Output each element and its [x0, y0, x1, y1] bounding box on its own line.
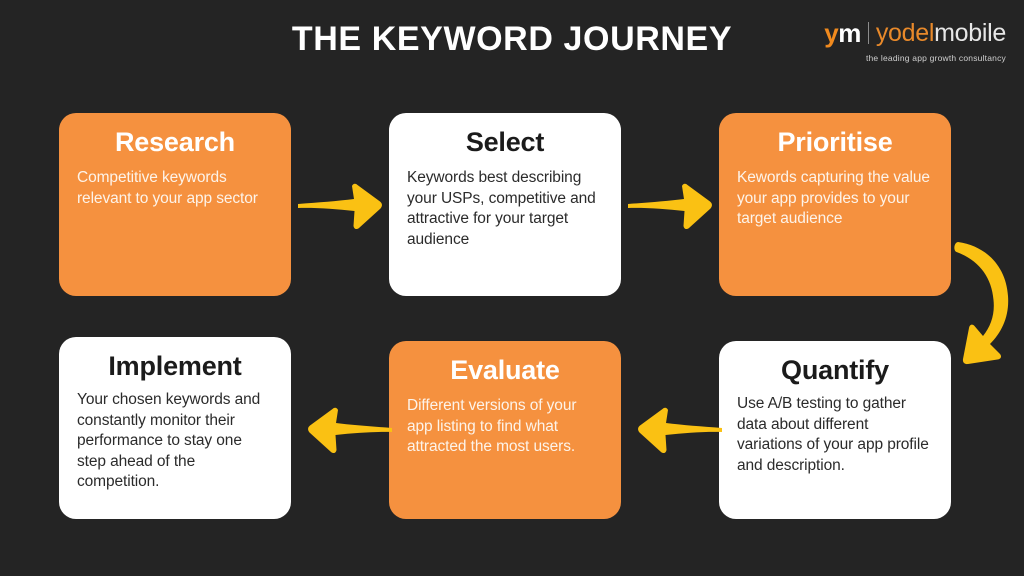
logo-monogram: ym: [824, 20, 861, 46]
step-body-evaluate: Different versions of your app listing t…: [407, 396, 603, 458]
step-card-quantify[interactable]: Quantify Use A/B testing to gather data …: [719, 341, 951, 519]
step-body-implement: Your chosen keywords and constantly moni…: [77, 390, 273, 493]
logo-monogram-m: m: [838, 18, 861, 48]
step-card-implement[interactable]: Implement Your chosen keywords and const…: [59, 337, 291, 519]
step-title-research: Research: [77, 127, 273, 158]
arrow-right-icon-select-to-prioritise: [628, 172, 722, 238]
arrow-right-icon-research-to-select: [298, 172, 392, 238]
logo-row: ym yodelmobile: [806, 18, 1006, 48]
logo-wordmark-yodel: yodel: [876, 19, 934, 47]
step-title-quantify: Quantify: [737, 355, 933, 386]
logo-wordmark: yodelmobile: [876, 21, 1006, 46]
step-card-evaluate[interactable]: Evaluate Different versions of your app …: [389, 341, 621, 519]
arrow-curved-down-icon-prioritise-to-quantify: [944, 228, 1022, 373]
step-card-select[interactable]: Select Keywords best describing your USP…: [389, 113, 621, 296]
arrow-left-icon-evaluate-to-implement: [296, 396, 392, 462]
step-body-research: Competitive keywords relevant to your ap…: [77, 168, 273, 209]
step-title-implement: Implement: [77, 351, 273, 382]
step-body-select: Keywords best describing your USPs, comp…: [407, 168, 603, 250]
step-body-quantify: Use A/B testing to gather data about dif…: [737, 394, 933, 476]
logo-tagline: the leading app growth consultancy: [806, 54, 1006, 63]
infographic-canvas: THE KEYWORD JOURNEY ym yodelmobile the l…: [0, 0, 1024, 576]
logo-divider-icon: [868, 22, 869, 44]
logo-monogram-y: y: [824, 18, 838, 48]
step-body-prioritise: Kewords capturing the value your app pro…: [737, 168, 933, 230]
step-title-evaluate: Evaluate: [407, 355, 603, 386]
step-card-research[interactable]: Research Competitive keywords relevant t…: [59, 113, 291, 296]
step-title-select: Select: [407, 127, 603, 158]
logo-wordmark-mobile: mobile: [934, 19, 1006, 47]
step-title-prioritise: Prioritise: [737, 127, 933, 158]
step-card-prioritise[interactable]: Prioritise Kewords capturing the value y…: [719, 113, 951, 296]
brand-logo: ym yodelmobile the leading app growth co…: [806, 18, 1006, 63]
arrow-left-icon-quantify-to-evaluate: [626, 396, 722, 462]
